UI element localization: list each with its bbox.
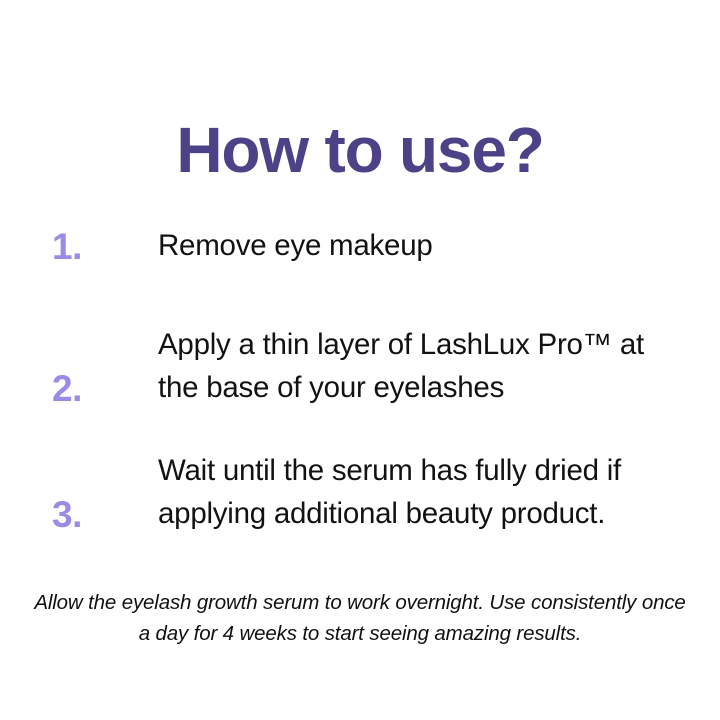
list-item: 1. Remove eye makeup bbox=[0, 206, 720, 268]
step-text: Remove eye makeup bbox=[158, 225, 680, 268]
step-number: 3. bbox=[52, 496, 158, 536]
page-title: How to use? bbox=[0, 117, 720, 184]
step-number: 1. bbox=[52, 228, 158, 268]
steps-list: 1. Remove eye makeup 2. Apply a thin lay… bbox=[0, 206, 720, 536]
step-text: Wait until the serum has fully dried if … bbox=[158, 450, 680, 536]
step-number: 2. bbox=[52, 370, 158, 410]
list-item: 3. Wait until the serum has fully dried … bbox=[0, 442, 720, 536]
list-item: 2. Apply a thin layer of LashLux Pro™ at… bbox=[0, 316, 720, 410]
step-text: Apply a thin layer of LashLux Pro™ at th… bbox=[158, 324, 680, 410]
how-to-use-poster: How to use? 1. Remove eye makeup 2. Appl… bbox=[0, 0, 720, 720]
footnote-text: Allow the eyelash growth serum to work o… bbox=[26, 587, 694, 651]
